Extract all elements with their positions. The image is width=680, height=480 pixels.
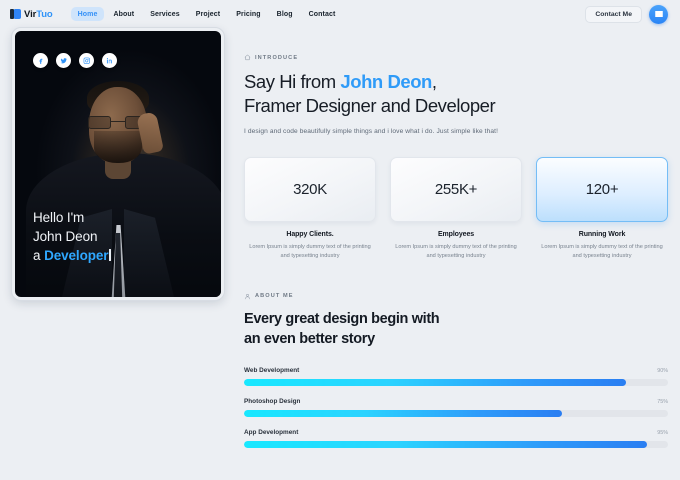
twitter-icon[interactable] xyxy=(56,53,71,68)
nav-actions: Contact Me xyxy=(585,5,668,24)
stat-title: Employees xyxy=(390,231,522,238)
brand-name-part2: Tuo xyxy=(36,9,52,20)
skill-track xyxy=(244,410,668,417)
instagram-icon[interactable] xyxy=(79,53,94,68)
stat-value: 255K+ xyxy=(435,181,477,198)
about-heading-line-2: an even better story xyxy=(244,329,668,349)
about-heading-line-1: Every great design begin with xyxy=(244,309,668,329)
nav-item-services[interactable]: Services xyxy=(143,7,187,21)
person-icon xyxy=(244,293,251,300)
nav-item-home[interactable]: Home xyxy=(71,7,105,21)
page-body: Hello I'm John Deon a Developer INTRODUC… xyxy=(0,28,680,460)
typing-caret xyxy=(109,249,110,261)
hero-line-3-prefix: a xyxy=(33,248,44,263)
skill-label: Web Development xyxy=(244,367,299,374)
about-eyebrow-label: ABOUT ME xyxy=(255,293,294,299)
stat-value-box: 120+ xyxy=(536,157,668,222)
logo-mark-icon xyxy=(10,9,21,20)
brand-logo[interactable]: VirTuo xyxy=(10,9,53,20)
about-eyebrow: ABOUT ME xyxy=(244,293,668,300)
page-title: Say Hi from John Deon, Framer Designer a… xyxy=(244,70,668,119)
skill-label: Photoshop Design xyxy=(244,398,300,405)
nav-item-project[interactable]: Project xyxy=(189,7,227,21)
stat-card-happy-clients[interactable]: 320K Happy Clients. Lorem Ipsum is simpl… xyxy=(244,157,376,261)
stat-card-running-work[interactable]: 120+ Running Work Lorem Ipsum is simply … xyxy=(536,157,668,261)
introduce-eyebrow: INTRODUCE xyxy=(244,54,668,61)
hero-portrait-card: Hello I'm John Deon a Developer xyxy=(12,28,224,300)
skill-photoshop-design: Photoshop Design 75% xyxy=(244,398,668,417)
hero-line-3: a Developer xyxy=(33,246,111,265)
stat-title: Running Work xyxy=(536,231,668,238)
nav-item-contact[interactable]: Contact xyxy=(302,7,343,21)
skill-percent: 95% xyxy=(657,430,668,436)
hero-text: Hello I'm John Deon a Developer xyxy=(33,208,111,265)
skill-app-development: App Development 95% xyxy=(244,429,668,448)
hero-line-1: Hello I'm xyxy=(33,208,111,227)
stat-value: 320K xyxy=(293,181,327,198)
intro-lede: I design and code beautifully simple thi… xyxy=(244,128,668,135)
skill-track xyxy=(244,379,668,386)
facebook-icon[interactable] xyxy=(33,53,48,68)
stat-description: Lorem Ipsum is simply dummy text of the … xyxy=(390,243,522,261)
nav-links: Home About Services Project Pricing Blog… xyxy=(71,7,343,21)
skill-bars: Web Development 90% Photoshop Design 75% xyxy=(244,367,668,448)
about-section: ABOUT ME Every great design begin with a… xyxy=(244,293,668,349)
linkedin-icon[interactable] xyxy=(102,53,117,68)
brand-name: VirTuo xyxy=(24,9,53,20)
stat-value: 120+ xyxy=(586,181,619,198)
nav-item-blog[interactable]: Blog xyxy=(270,7,300,21)
skill-percent: 90% xyxy=(657,368,668,374)
headline-pre: Say Hi from xyxy=(244,71,340,92)
skill-fill xyxy=(244,410,562,417)
skill-header: Web Development 90% xyxy=(244,367,668,374)
skill-header: Photoshop Design 75% xyxy=(244,398,668,405)
stat-card-employees[interactable]: 255K+ Employees Lorem Ipsum is simply du… xyxy=(390,157,522,261)
stat-value-box: 320K xyxy=(244,157,376,222)
stat-title: Happy Clients. xyxy=(244,231,376,238)
nav-item-pricing[interactable]: Pricing xyxy=(229,7,267,21)
hamburger-menu-icon[interactable] xyxy=(649,5,668,24)
contact-me-button[interactable]: Contact Me xyxy=(585,6,642,23)
brand-name-part1: Vir xyxy=(24,9,36,20)
skill-percent: 75% xyxy=(657,399,668,405)
introduce-eyebrow-label: INTRODUCE xyxy=(255,55,298,61)
stats-row: 320K Happy Clients. Lorem Ipsum is simpl… xyxy=(244,157,668,261)
home-icon xyxy=(244,54,251,61)
headline-name: John Deon xyxy=(340,71,432,92)
stat-description: Lorem Ipsum is simply dummy text of the … xyxy=(244,243,376,261)
stat-value-box: 255K+ xyxy=(390,157,522,222)
skill-track xyxy=(244,441,668,448)
nav-item-about[interactable]: About xyxy=(106,7,141,21)
headline-line-1: Say Hi from John Deon, xyxy=(244,70,668,94)
headline-post: , xyxy=(432,71,437,92)
skill-web-development: Web Development 90% xyxy=(244,367,668,386)
top-navbar: VirTuo Home About Services Project Prici… xyxy=(0,0,680,28)
headline-line-2: Framer Designer and Developer xyxy=(244,94,668,118)
hero-line-2: John Deon xyxy=(33,227,111,246)
skill-fill xyxy=(244,379,626,386)
stat-description: Lorem Ipsum is simply dummy text of the … xyxy=(536,243,668,261)
skill-label: App Development xyxy=(244,429,298,436)
hero-role-highlight: Developer xyxy=(44,248,108,263)
main-content: INTRODUCE Say Hi from John Deon, Framer … xyxy=(244,28,668,460)
about-heading: Every great design begin with an even be… xyxy=(244,309,668,349)
skill-fill xyxy=(244,441,647,448)
skill-header: App Development 95% xyxy=(244,429,668,436)
social-links xyxy=(33,53,117,68)
